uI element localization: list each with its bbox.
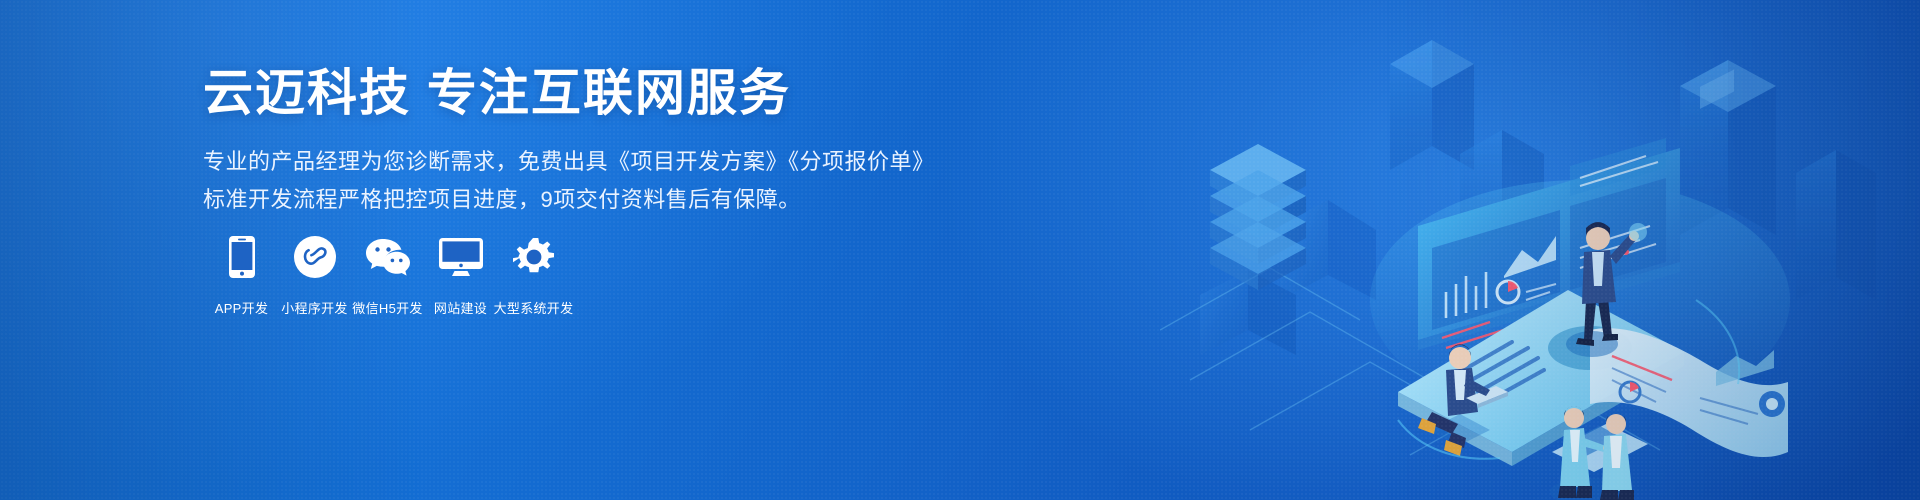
banner-copy: 云迈科技 专注互联网服务 专业的产品经理为您诊断需求，免费出具《项目开发方案》《… <box>203 66 923 219</box>
mobile-phone-icon <box>229 232 255 282</box>
banner-subtitle: 专业的产品经理为您诊断需求，免费出具《项目开发方案》《分项报价单》 标准开发流程… <box>203 143 923 219</box>
service-item-website[interactable]: 网站建设 <box>424 232 497 317</box>
service-item-mini-program[interactable]: 小程序开发 <box>278 232 351 317</box>
monitor-icon <box>439 232 483 282</box>
isometric-illustration <box>1160 0 1920 500</box>
wechat-icon <box>366 232 410 282</box>
service-item-app[interactable]: APP开发 <box>205 232 278 317</box>
service-label: 大型系统开发 <box>494 298 574 317</box>
service-label: 微信H5开发 <box>352 298 422 317</box>
service-label: 小程序开发 <box>281 298 348 317</box>
service-list: APP开发 小程序开发 微信 <box>205 232 570 317</box>
subtitle-line-2: 标准开发流程严格把控项目进度，9项交付资料售后有保障。 <box>203 181 923 219</box>
mini-program-icon <box>294 232 336 282</box>
subtitle-line-1: 专业的产品经理为您诊断需求，免费出具《项目开发方案》《分项报价单》 <box>203 143 923 181</box>
service-label: APP开发 <box>215 298 269 317</box>
service-item-wechat-h5[interactable]: 微信H5开发 <box>351 232 424 317</box>
promo-banner: 云迈科技 专注互联网服务 专业的产品经理为您诊断需求，免费出具《项目开发方案》《… <box>0 0 1920 500</box>
service-label: 网站建设 <box>434 298 487 317</box>
page-title: 云迈科技 专注互联网服务 <box>203 66 923 121</box>
service-item-large-system[interactable]: 大型系统开发 <box>497 232 570 317</box>
gear-icon <box>513 232 555 282</box>
